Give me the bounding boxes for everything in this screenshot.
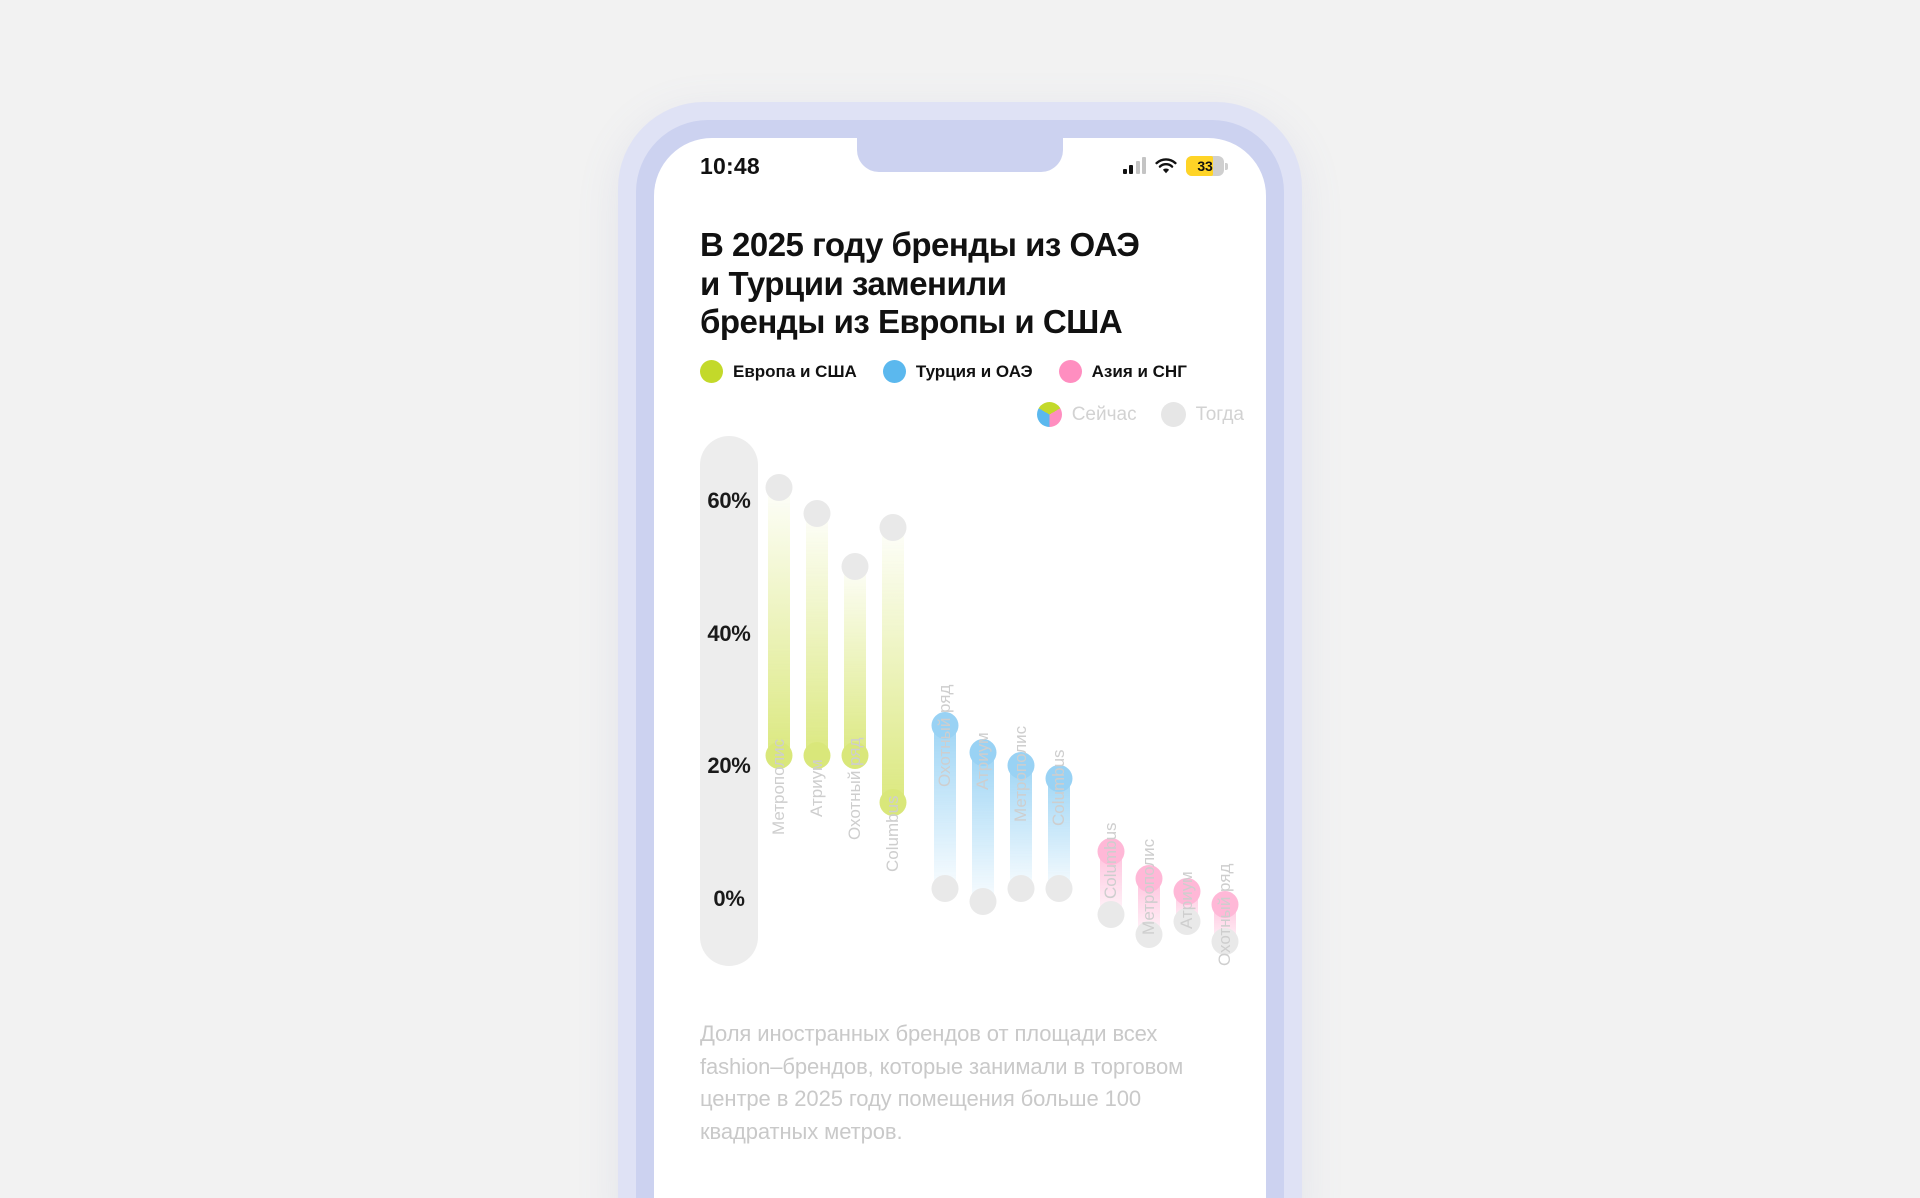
screenshot-canvas: 10:48 33 В 2025 году бренды из ОА (0, 0, 1920, 1198)
cellular-signal-icon (1123, 158, 1147, 174)
chart-caption: Доля иностранных брендов от площади всех… (700, 1018, 1230, 1148)
bar-cap-then (932, 875, 959, 902)
chart-bar[interactable] (806, 502, 828, 767)
legend-color-dot (700, 360, 723, 383)
legend-color-dot (1059, 360, 1082, 383)
bar-cap-then (842, 553, 869, 580)
chart-bar[interactable] (844, 555, 866, 767)
bar-cap-then (804, 500, 831, 527)
bar-cap-then (880, 514, 907, 541)
legend-label-then: Тогда (1196, 404, 1244, 426)
y-axis-tick-label: 0% (700, 886, 758, 912)
chart-legend: Европа и США Турция и ОАЭ Азия и СНГ (700, 360, 1187, 383)
chart-bar[interactable] (882, 516, 904, 814)
multicolor-pie-dot-icon (1037, 402, 1062, 427)
wifi-icon (1155, 158, 1177, 175)
page-title: В 2025 году бренды из ОАЭ и Турции замен… (700, 226, 1240, 342)
legend-item-then[interactable]: Тогда (1161, 402, 1244, 427)
bar-cap-then (1008, 875, 1035, 902)
battery-icon: 33 (1186, 156, 1224, 176)
chart-bar[interactable] (768, 476, 790, 768)
state-legend: Сейчас Тогда (1037, 402, 1244, 427)
chart-area: 60%40%20%0% МетрополисАтриумОхотный рядC… (654, 436, 1266, 976)
status-bar: 10:48 33 (654, 138, 1266, 194)
y-axis-tick-label: 60% (700, 488, 758, 514)
legend-label: Азия и СНГ (1092, 362, 1187, 382)
legend-item-now[interactable]: Сейчас (1037, 402, 1137, 427)
battery-tip (1225, 163, 1228, 170)
legend-label: Европа и США (733, 362, 857, 382)
battery-percent: 33 (1186, 158, 1224, 174)
legend-item-turkey-uae[interactable]: Турция и ОАЭ (883, 360, 1033, 383)
bar-cap-then (1046, 875, 1073, 902)
legend-label-now: Сейчас (1072, 404, 1137, 426)
chart-plot: МетрополисАтриумОхотный рядColumbusОхотн… (766, 436, 1262, 966)
bar-cap-then (1098, 901, 1125, 928)
y-axis-tick-label: 20% (700, 753, 758, 779)
status-time: 10:48 (700, 153, 760, 180)
legend-item-asia-cis[interactable]: Азия и СНГ (1059, 360, 1187, 383)
legend-item-europe-usa[interactable]: Европа и США (700, 360, 857, 383)
gray-dot-icon (1161, 402, 1186, 427)
bar-cap-then (970, 888, 997, 915)
status-indicators: 33 (1123, 156, 1225, 176)
y-axis-tick-label: 40% (700, 621, 758, 647)
legend-color-dot (883, 360, 906, 383)
legend-label: Турция и ОАЭ (916, 362, 1033, 382)
phone-screen: 10:48 33 В 2025 году бренды из ОА (654, 138, 1266, 1198)
bar-cap-then (766, 474, 793, 501)
